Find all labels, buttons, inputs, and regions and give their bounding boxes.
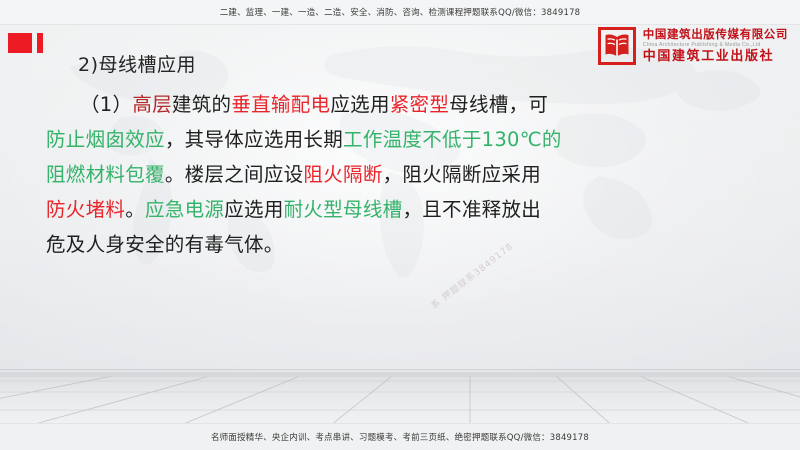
text-run-green: 阻燃材料包覆 <box>46 163 165 186</box>
text-run-black: 母线槽，可 <box>449 93 548 116</box>
bottom-banner-text: 名师面授精华、央企内训、考点串讲、习题模考、考前三页纸、绝密押题联系QQ/微信：… <box>211 431 589 443</box>
text-run-black: （1） <box>80 93 132 116</box>
slide-content: 2)母线槽应用 （1）高层建筑的垂直输配电应选用紧密型母线槽，可防止烟囱效应，其… <box>46 50 756 262</box>
page-title: 2)母线槽应用 <box>78 50 756 77</box>
bottom-banner: 名师面授精华、央企内训、考点串讲、习题模考、考前三页纸、绝密押题联系QQ/微信：… <box>0 423 800 450</box>
text-run-black: 应选用 <box>224 198 283 221</box>
text-run-darkred: 高层 <box>132 93 172 116</box>
text-run-green: 耐火型母线槽 <box>284 198 403 221</box>
accent-marks <box>8 33 43 53</box>
text-run-black: 。 <box>125 198 145 221</box>
text-run-red: 防火堵料 <box>46 198 125 221</box>
text-run-black: ，且不准释放出 <box>402 198 541 221</box>
text-run-green: 应急电源 <box>145 198 224 221</box>
slide-paragraph: （1）高层建筑的垂直输配电应选用紧密型母线槽，可防止烟囱效应，其导体应选用长期工… <box>46 87 756 262</box>
text-run-black: 。楼层之间应设 <box>165 163 304 186</box>
text-run-green: 工作温度不低于130℃的 <box>343 128 562 151</box>
text-run-black: ，阻火隔断应采用 <box>383 163 541 186</box>
top-banner-text: 二建、监理、一建、一造、二造、安全、消防、咨询、检测课程押题联系QQ/微信：38… <box>220 6 581 18</box>
text-run-black: 应选用 <box>330 93 389 116</box>
slide-text-line: 防止烟囱效应，其导体应选用长期工作温度不低于130℃的 <box>46 122 756 157</box>
text-run-black: 危及人身安全的有毒气体。 <box>46 233 284 256</box>
text-run-black: 建筑的 <box>172 93 231 116</box>
text-run-black: ，其导体应选用长期 <box>165 128 343 151</box>
top-banner: 二建、监理、一建、一造、二造、安全、消防、咨询、检测课程押题联系QQ/微信：38… <box>0 0 800 25</box>
text-run-green: 防止烟囱效应 <box>46 128 165 151</box>
accent-block-icon <box>8 33 32 53</box>
slide-canvas: 二建、监理、一建、一造、二造、安全、消防、咨询、检测课程押题联系QQ/微信：38… <box>0 0 800 450</box>
text-run-red: 阻火隔断 <box>303 163 382 186</box>
slide-text-line: 防火堵料。应急电源应选用耐火型母线槽，且不准释放出 <box>46 192 756 227</box>
slide-text-line: 危及人身安全的有毒气体。 <box>46 227 756 262</box>
slide-text-line: （1）高层建筑的垂直输配电应选用紧密型母线槽，可 <box>46 87 756 122</box>
text-run-red: 垂直输配电 <box>231 93 330 116</box>
publisher-company-cn: 中国建筑出版传媒有限公司 <box>643 29 788 41</box>
accent-bar-icon <box>37 33 43 53</box>
text-run-red: 紧密型 <box>390 93 449 116</box>
slide-text-line: 阻燃材料包覆。楼层之间应设阻火隔断，阻火隔断应采用 <box>46 157 756 192</box>
publisher-company-en: China Architecture Publishing & Media Co… <box>643 43 788 48</box>
